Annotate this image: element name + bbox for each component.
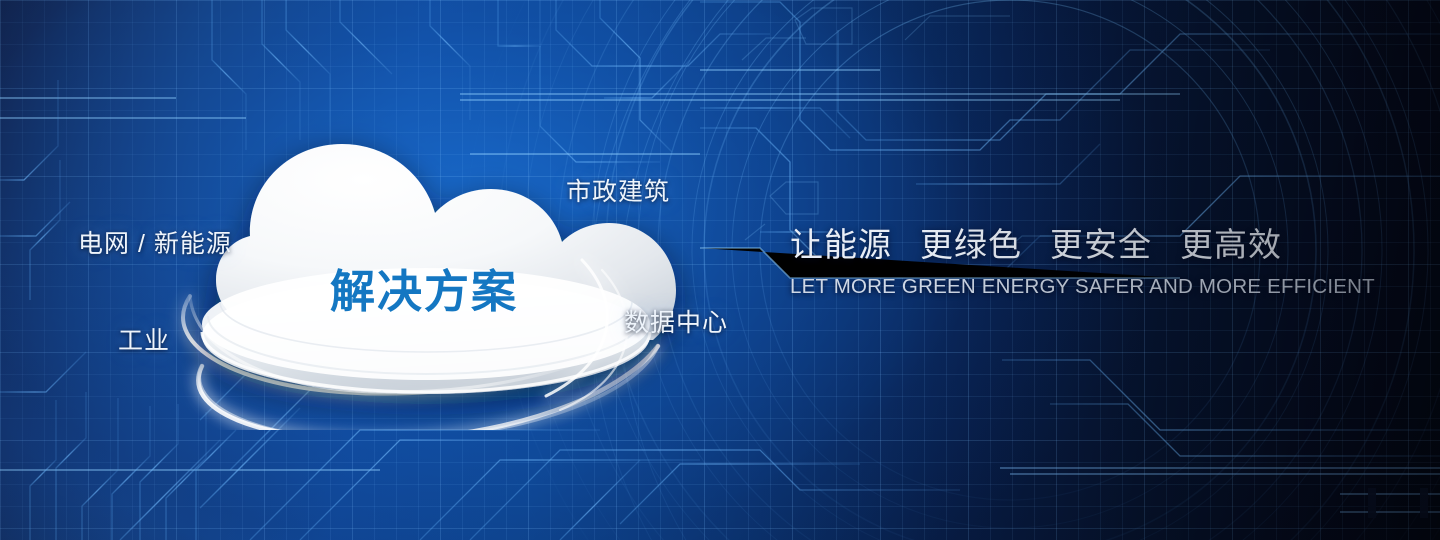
headline-segment-2: 更绿色 <box>920 226 1022 263</box>
bus-tick-set <box>1372 488 1424 518</box>
label-municipal-building: 市政建筑 <box>566 172 670 208</box>
headline-segment-4: 更高效 <box>1180 226 1282 263</box>
headline-chinese: 让能源更绿色更安全更高效 <box>790 218 1375 266</box>
label-grid-new-energy: 电网 / 新能源 <box>78 224 232 260</box>
hero-banner: 电网 / 新能源 工业 市政建筑 数据中心 解决方案 让能源更绿色更安全更高效 … <box>0 0 1440 540</box>
headline-segment-3: 更安全 <box>1050 226 1152 263</box>
cloud-solution-title: 解决方案 <box>330 255 518 320</box>
headline-block: 让能源更绿色更安全更高效 LET MORE GREEN ENERGY SAFER… <box>790 218 1375 299</box>
headline-segment-1: 让能源 <box>790 226 892 263</box>
label-industry: 工业 <box>118 321 170 357</box>
label-data-center: 数据中心 <box>624 303 728 339</box>
dial-notch-set <box>742 8 1056 250</box>
circuit-trace-bottom <box>300 440 960 540</box>
headline-english-subtitle: LET MORE GREEN ENERGY SAFER AND MORE EFF… <box>790 275 1375 299</box>
